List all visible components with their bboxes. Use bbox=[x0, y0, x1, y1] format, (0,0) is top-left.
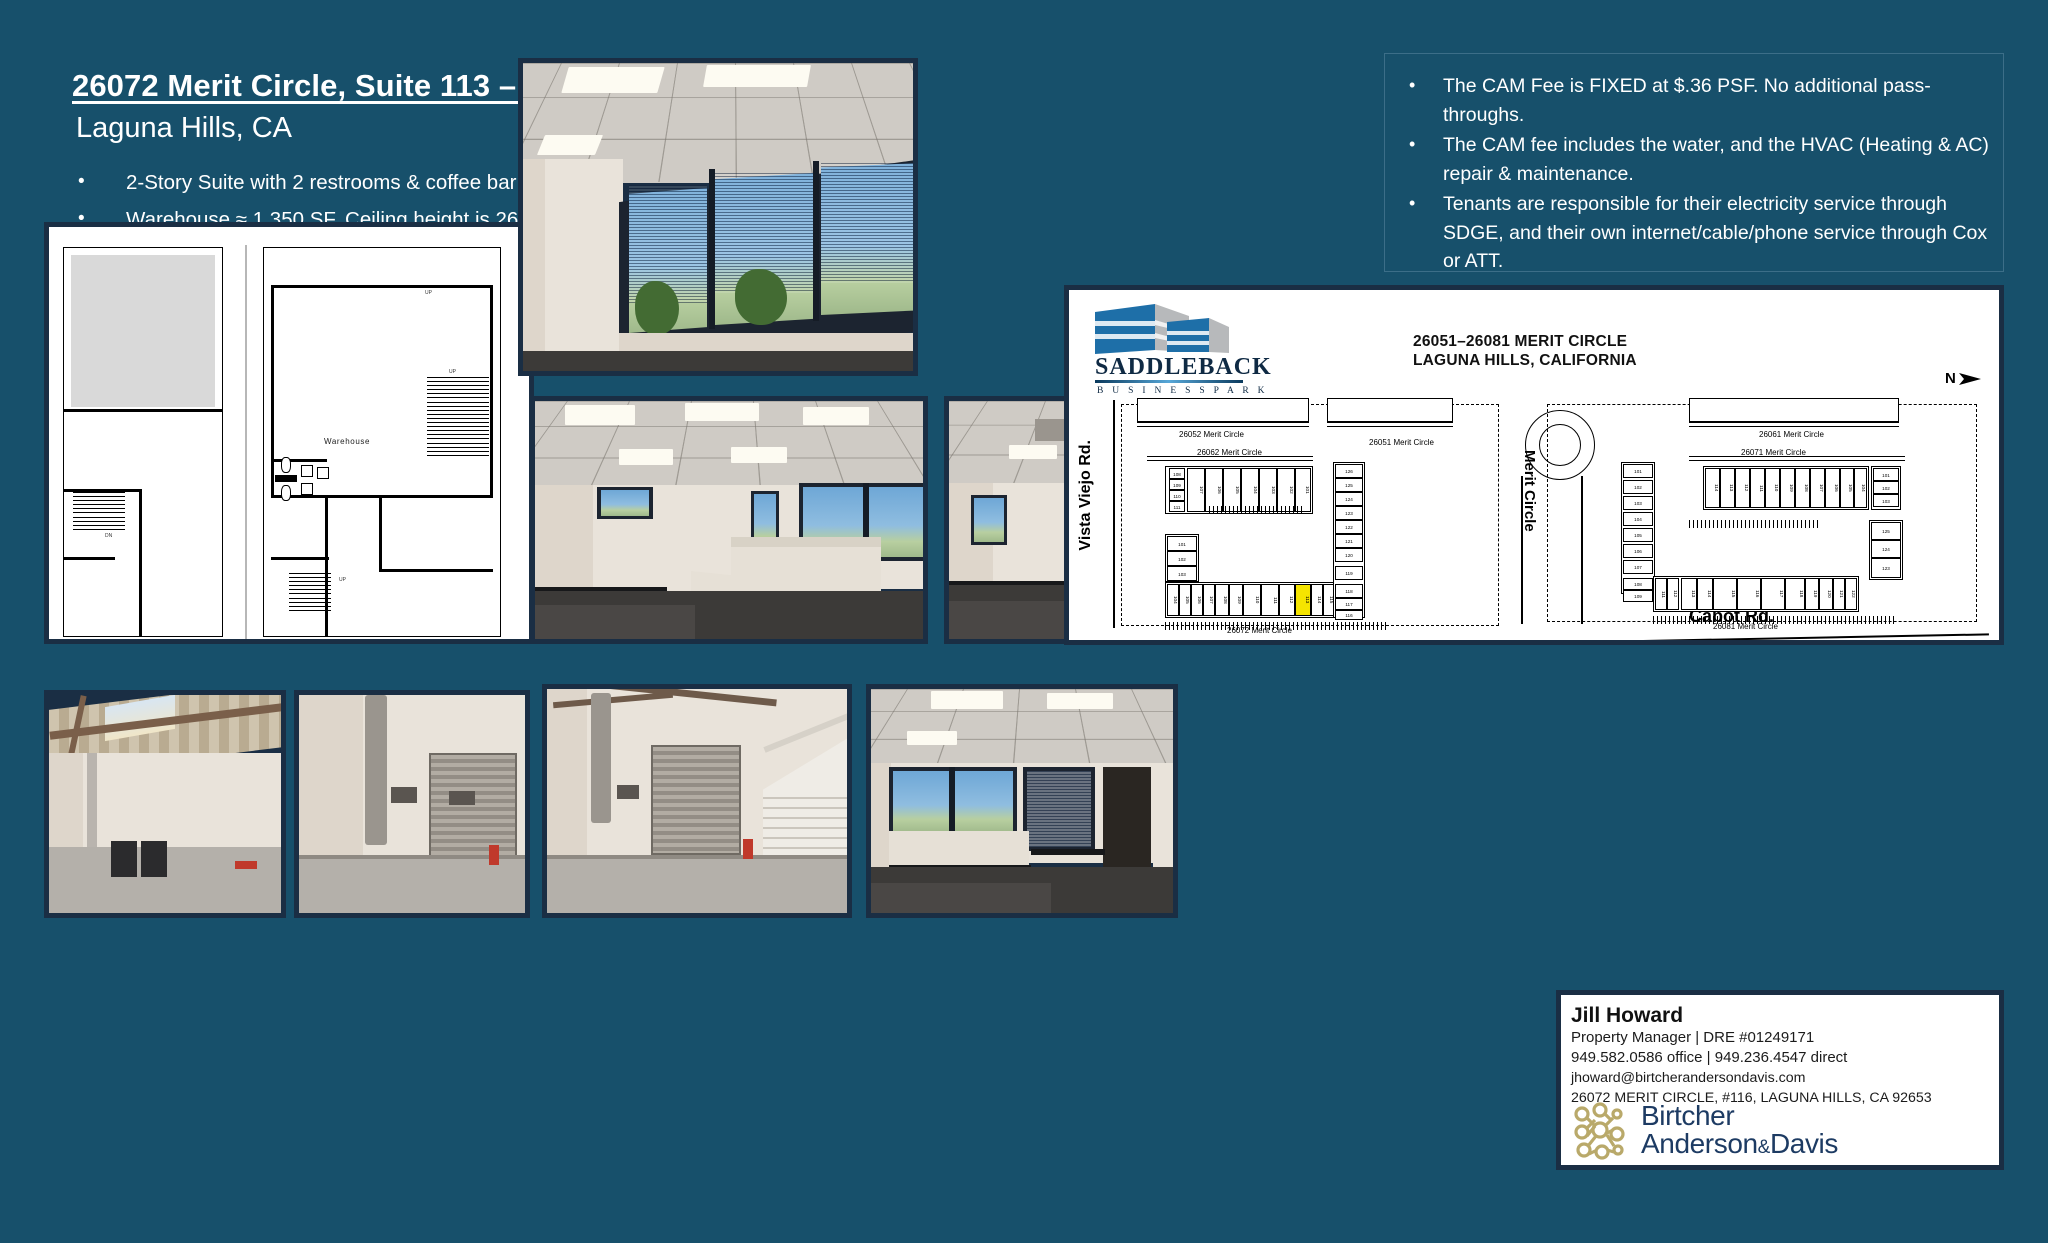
suite-cell: 114 bbox=[1697, 578, 1713, 610]
photo-open-office-reception bbox=[530, 396, 928, 644]
building-26051-north bbox=[1327, 398, 1453, 422]
suite-cell: 118 bbox=[1335, 584, 1363, 598]
suite-cell: 110 bbox=[1765, 468, 1780, 508]
wall bbox=[271, 495, 493, 498]
suite-cell: 115 bbox=[1713, 578, 1737, 610]
suite-cell: 106 bbox=[1825, 468, 1840, 508]
fire-extinguisher bbox=[489, 845, 499, 865]
suite-cell: 107 bbox=[1187, 468, 1205, 512]
suite-cell: 123 bbox=[1335, 506, 1363, 520]
suite-cell: 109 bbox=[1623, 590, 1653, 602]
suite-cell: 101 bbox=[1623, 464, 1653, 478]
suite-cell: 114 bbox=[1311, 584, 1323, 616]
road-edge bbox=[1521, 476, 1523, 624]
photo-warehouse-rollup-door-2 bbox=[542, 684, 852, 918]
restroom-fixture-icon bbox=[301, 465, 313, 477]
cam-notes-list: The CAM Fee is FIXED at $.36 PSF. No add… bbox=[1385, 72, 2003, 276]
suite-cell: 126 bbox=[1335, 464, 1363, 478]
suite-cell: 106 bbox=[1191, 584, 1203, 616]
suite-cell-highlighted-113: 113 bbox=[1295, 584, 1311, 616]
suite-cell: 103 bbox=[1873, 494, 1899, 507]
suite-cell: 109 bbox=[1229, 584, 1243, 616]
suite-cell: 124 bbox=[1335, 492, 1363, 506]
company-line-2: Anderson bbox=[1641, 1128, 1758, 1159]
suite-cell: 112 bbox=[1735, 468, 1750, 508]
road-edge bbox=[1581, 476, 1583, 624]
suite-cell: 107 bbox=[1203, 584, 1215, 616]
suite-cell: 106 bbox=[1623, 544, 1653, 558]
suite-cell: 102 bbox=[1623, 480, 1653, 494]
logo-rule bbox=[1095, 380, 1243, 383]
stair-direction-label: DN bbox=[105, 533, 112, 539]
suite-cell: 102 bbox=[1873, 481, 1899, 494]
suite-cell: 101 bbox=[1167, 536, 1197, 551]
list-item: The CAM fee includes the water, and the … bbox=[1385, 131, 1989, 188]
suite-cell: 119 bbox=[1805, 578, 1819, 610]
building-26052 bbox=[1137, 398, 1309, 422]
wall bbox=[271, 285, 493, 288]
wall bbox=[490, 285, 493, 495]
flyer-page: 26072 Merit Circle, Suite 113 – 4,072 SF… bbox=[0, 0, 2048, 1243]
suite-cell: 125 bbox=[1871, 522, 1901, 540]
wall bbox=[63, 557, 115, 560]
suite-cell: 108 bbox=[1215, 584, 1229, 616]
photo-content bbox=[535, 401, 923, 639]
company-line-1: Birtcher bbox=[1641, 1102, 1838, 1130]
suite-cell: 105 bbox=[1840, 468, 1854, 508]
north-arrow-icon bbox=[1959, 370, 1983, 388]
suite-cell: 121 bbox=[1335, 534, 1363, 548]
suite-cell: 108 bbox=[1795, 468, 1810, 508]
suite-cell: 124 bbox=[1871, 540, 1901, 558]
photo-content bbox=[871, 689, 1173, 913]
restroom-fixture-icon bbox=[275, 475, 297, 482]
suite-cell: 103 bbox=[1623, 496, 1653, 510]
site-map-title-line1: 26051–26081 MERIT CIRCLE bbox=[1413, 332, 1637, 351]
street-label-vista-viejo: Vista Viejo Rd. bbox=[1077, 440, 1095, 551]
suite-cell: 117 bbox=[1761, 578, 1785, 610]
stair-run bbox=[427, 377, 489, 469]
contact-name: Jill Howard bbox=[1571, 1003, 1989, 1028]
warehouse-label: Warehouse bbox=[324, 437, 370, 446]
site-map-panel: SADDLEBACK B U S I N E S S P A R K 26051… bbox=[1064, 285, 2004, 645]
wall bbox=[63, 409, 223, 412]
photo-office-blinds-hallway bbox=[866, 684, 1178, 918]
suite-cell: 117 bbox=[1335, 598, 1363, 610]
contact-phone: 949.582.0586 office | 949.236.4547 direc… bbox=[1571, 1048, 1989, 1068]
building-label: 26051 Merit Circle bbox=[1369, 438, 1434, 447]
photo-content bbox=[299, 695, 525, 913]
restroom-fixture-icon bbox=[301, 483, 313, 495]
photo-content bbox=[49, 695, 281, 913]
suite-cell: 105 bbox=[1623, 528, 1653, 542]
page-subtitle: Laguna Hills, CA bbox=[76, 112, 292, 145]
suite-cell: 118 bbox=[1785, 578, 1805, 610]
suite-cell: 104 bbox=[1623, 512, 1653, 526]
suite-cell: 110 bbox=[1169, 490, 1185, 501]
contact-title: Property Manager | DRE #01249171 bbox=[1571, 1028, 1989, 1048]
wall bbox=[271, 459, 327, 462]
suite-cell: 111 bbox=[1169, 501, 1185, 512]
suite-cell: 111 bbox=[1655, 578, 1667, 610]
photo-warehouse-rollup-door-1 bbox=[294, 690, 530, 918]
suite-cell: 108 bbox=[1169, 468, 1185, 479]
suite-cell: 107 bbox=[1810, 468, 1825, 508]
stair-run bbox=[289, 573, 331, 617]
suite-cell: 114 bbox=[1705, 468, 1720, 508]
stair-direction-label: UP bbox=[339, 577, 346, 583]
floor-plan-sheet: DN Warehouse UP UP bbox=[49, 227, 529, 639]
suite-cell: 121 bbox=[1833, 578, 1845, 610]
stair-run bbox=[73, 492, 125, 534]
birtcher-logo: Birtcher Anderson&Davis bbox=[1571, 1101, 1838, 1163]
suite-cell: 120 bbox=[1819, 578, 1833, 610]
suite-cell: 123 bbox=[1871, 558, 1901, 578]
building-label: 26052 Merit Circle bbox=[1179, 430, 1244, 439]
suite-cell: 113 bbox=[1681, 578, 1697, 610]
fire-extinguisher bbox=[743, 839, 753, 859]
suite-cell: 122 bbox=[1335, 520, 1363, 534]
suite-cell: 108 bbox=[1623, 578, 1653, 590]
suite-cell: 113 bbox=[1720, 468, 1735, 508]
company-ampersand: & bbox=[1758, 1137, 1770, 1158]
door-swing-label: UP bbox=[425, 290, 432, 296]
restroom-fixture-icon bbox=[281, 457, 291, 473]
suite-cell: 107 bbox=[1623, 560, 1653, 574]
wall bbox=[139, 489, 142, 637]
photo-warehouse-interior-1 bbox=[44, 690, 286, 918]
wall bbox=[379, 495, 382, 571]
suite-cell: 112 bbox=[1667, 578, 1679, 610]
wall bbox=[379, 569, 493, 572]
suite-cell: 122 bbox=[1845, 578, 1857, 610]
suite-cell: 125 bbox=[1335, 478, 1363, 492]
suite-cell: 116 bbox=[1737, 578, 1761, 610]
building-26061 bbox=[1689, 398, 1899, 422]
saddleback-subtitle: B U S I N E S S P A R K bbox=[1097, 386, 1268, 396]
suite-cell: 111 bbox=[1750, 468, 1765, 508]
suite-cell: 102 bbox=[1167, 551, 1197, 566]
list-item: Tenants are responsible for their electr… bbox=[1385, 190, 1989, 276]
cam-notes-box: The CAM Fee is FIXED at $.36 PSF. No add… bbox=[1384, 53, 2004, 272]
stair-direction-label: UP bbox=[449, 369, 456, 375]
contact-card: Jill Howard Property Manager | DRE #0124… bbox=[1556, 990, 2004, 1170]
photo-content bbox=[547, 689, 847, 913]
wall bbox=[271, 557, 329, 560]
site-map-title-line2: LAGUNA HILLS, CALIFORNIA bbox=[1413, 351, 1637, 370]
suite-cell: 104 bbox=[1167, 584, 1179, 616]
second-floor-open-area bbox=[71, 255, 215, 407]
contact-email[interactable]: jhoward@birtcherandersondavis.com bbox=[1571, 1068, 1989, 1088]
suite-cell: 109 bbox=[1780, 468, 1795, 508]
list-item: The CAM Fee is FIXED at $.36 PSF. No add… bbox=[1385, 72, 1989, 129]
suite-cell: 112 bbox=[1279, 584, 1295, 616]
birtcher-knot-icon bbox=[1571, 1101, 1633, 1163]
cabot-road-line bbox=[1089, 633, 1989, 640]
floor-plan-panel: DN Warehouse UP UP bbox=[44, 222, 534, 644]
photo-content bbox=[523, 63, 913, 371]
vista-viejo-edge bbox=[1113, 400, 1115, 628]
suite-cell: 116 bbox=[1335, 610, 1363, 620]
north-label: N bbox=[1945, 370, 1956, 387]
saddleback-building-icon bbox=[1093, 302, 1243, 358]
wall bbox=[271, 285, 274, 495]
suite-cell: 104 bbox=[1854, 468, 1867, 508]
suite-cell: 105 bbox=[1179, 584, 1191, 616]
suite-cell: 120 bbox=[1335, 548, 1363, 562]
coffee-bar-icon bbox=[317, 467, 329, 479]
suite-cell: 119 bbox=[1335, 566, 1363, 580]
suite-cell: 103 bbox=[1167, 566, 1197, 581]
suite-cell: 101 bbox=[1873, 468, 1899, 481]
building-label: 26072 Merit Circle bbox=[1227, 626, 1292, 635]
plan-divider bbox=[245, 245, 247, 639]
photo-office-corner-windows bbox=[518, 58, 918, 376]
red-object bbox=[235, 861, 257, 869]
suite-cell: 109 bbox=[1169, 479, 1185, 490]
saddleback-wordmark: SADDLEBACK bbox=[1095, 354, 1272, 381]
site-map-sheet: SADDLEBACK B U S I N E S S P A R K 26051… bbox=[1069, 290, 1999, 640]
suite-cell: 110 bbox=[1243, 584, 1261, 616]
restroom-fixture-icon bbox=[281, 485, 291, 501]
building-label: 26061 Merit Circle bbox=[1759, 430, 1824, 439]
company-line-3: Davis bbox=[1770, 1128, 1838, 1159]
suite-cell: 111 bbox=[1261, 584, 1279, 616]
cul-de-sac-inner bbox=[1539, 424, 1581, 466]
building-label: 26081 Merit Circle bbox=[1713, 622, 1778, 631]
